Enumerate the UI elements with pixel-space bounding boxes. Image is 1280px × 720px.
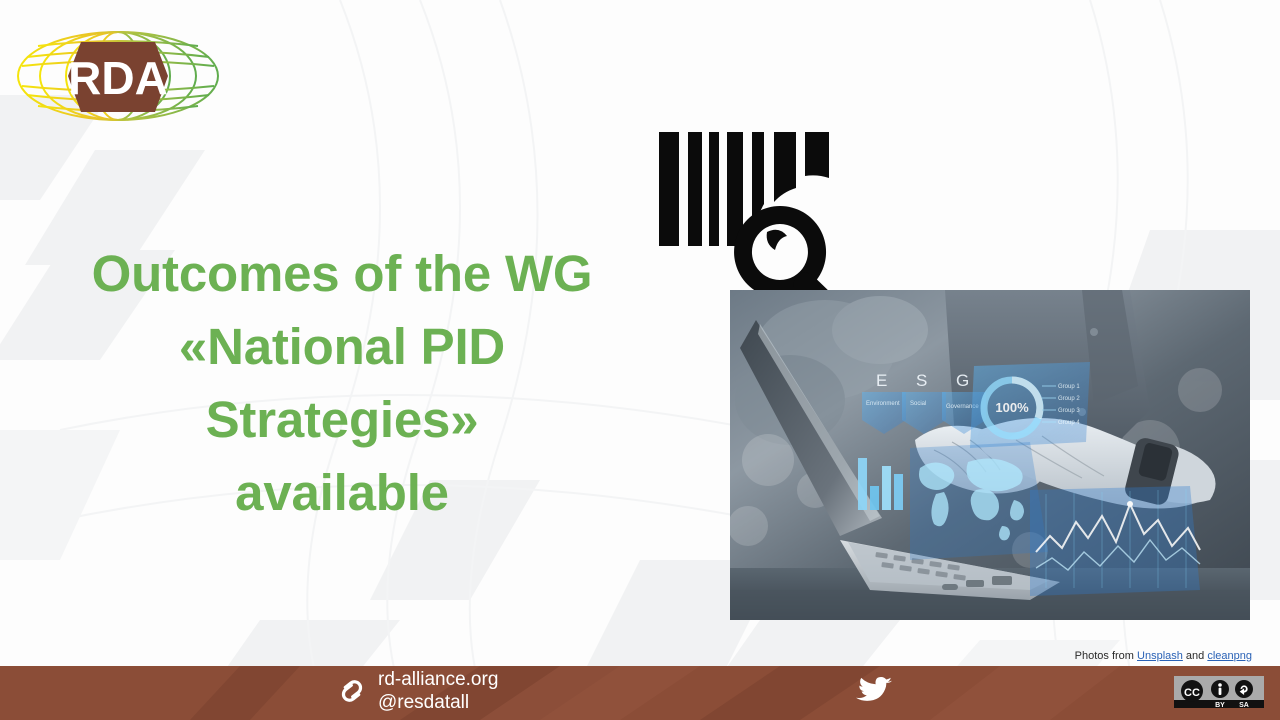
chain-link-icon: [336, 675, 368, 707]
svg-text:Social: Social: [910, 401, 926, 407]
holo-legend-1: Group 1: [1058, 384, 1080, 390]
page-title: Outcomes of the WG «National PID Strateg…: [42, 238, 642, 530]
twitter-bird-icon[interactable]: [855, 676, 893, 710]
title-line-2: «National PID: [42, 311, 642, 384]
photo-credit-separator: and: [1183, 650, 1207, 662]
footer-website-block[interactable]: rd-alliance.org @resdatall: [336, 668, 498, 714]
footer-website[interactable]: rd-alliance.org: [378, 668, 498, 691]
slide-canvas: RDA Outcomes of the WG «National PID Str…: [0, 0, 1280, 720]
photo-credit: Photos from Unsplash and cleanpng: [1075, 650, 1252, 662]
holo-label-s: S: [916, 371, 927, 390]
laptop-hologram-photo: E S G Environment Social Governance 100%: [730, 290, 1250, 620]
holo-legend-3: Group 3: [1058, 408, 1080, 414]
title-line-3: Strategies»: [42, 384, 642, 457]
holo-legend-2: Group 2: [1058, 396, 1080, 402]
footer-decoration: [0, 666, 1280, 720]
cleanpng-link[interactable]: cleanpng: [1207, 650, 1252, 662]
holo-label-g: G: [956, 371, 969, 390]
photo-credit-prefix: Photos from: [1075, 650, 1137, 662]
logo-wordmark: RDA: [68, 52, 168, 104]
unsplash-link[interactable]: Unsplash: [1137, 650, 1183, 662]
footer-bar: [0, 666, 1280, 720]
rda-logo: RDA: [8, 24, 228, 128]
title-line-1: Outcomes of the WG: [42, 238, 642, 311]
cc-mark: CC: [1184, 687, 1200, 699]
holo-legend-4: Group 4: [1058, 420, 1080, 426]
footer-handle[interactable]: @resdatall: [378, 691, 498, 714]
holo-donut-value: 100%: [995, 400, 1029, 415]
cc-by-label: BY: [1215, 702, 1225, 708]
cc-by-sa-badge: CC BY SA: [1174, 676, 1264, 708]
holo-label-e: E: [876, 371, 887, 390]
cc-sa-label: SA: [1239, 702, 1249, 708]
svg-text:Environment: Environment: [866, 401, 900, 407]
footer-link-labels: rd-alliance.org @resdatall: [378, 668, 498, 714]
title-line-4: available: [42, 457, 642, 530]
